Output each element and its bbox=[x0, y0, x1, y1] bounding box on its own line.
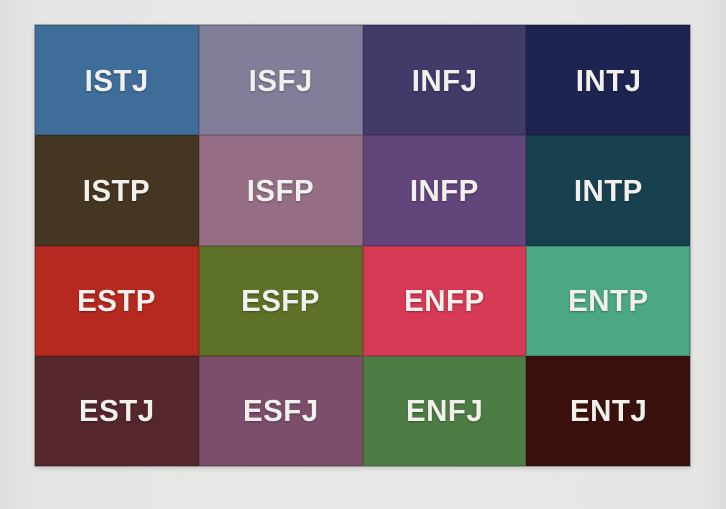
mbti-type-grid: ISTJ ISFJ INFJ INTJ ISTP ISFP INFP INTP … bbox=[35, 25, 690, 466]
mbti-cell-label: ENTP bbox=[568, 285, 648, 316]
mbti-cell-label: INFJ bbox=[412, 65, 478, 96]
mbti-cell-infj[interactable]: INFJ bbox=[363, 25, 527, 135]
mbti-cell-estp[interactable]: ESTP bbox=[35, 246, 199, 356]
mbti-cell-label: ISTP bbox=[83, 175, 150, 206]
mbti-cell-label: ISTJ bbox=[85, 65, 149, 96]
mbti-cell-label: ENFJ bbox=[406, 395, 483, 426]
mbti-cell-istj[interactable]: ISTJ bbox=[35, 25, 199, 135]
mbti-cell-enfj[interactable]: ENFJ bbox=[363, 356, 527, 466]
mbti-cell-label: ESFJ bbox=[243, 395, 319, 426]
mbti-cell-label: ISFP bbox=[247, 175, 314, 206]
mbti-cell-label: INTJ bbox=[575, 65, 641, 96]
mbti-cell-label: ESTP bbox=[77, 285, 156, 316]
mbti-cell-entp[interactable]: ENTP bbox=[526, 246, 690, 356]
mbti-cell-label: INTP bbox=[574, 175, 643, 206]
mbti-cell-esfj[interactable]: ESFJ bbox=[199, 356, 363, 466]
mbti-cell-label: ESFP bbox=[241, 285, 320, 316]
mbti-cell-intp[interactable]: INTP bbox=[526, 135, 690, 245]
mbti-cell-esfp[interactable]: ESFP bbox=[199, 246, 363, 356]
mbti-cell-isfj[interactable]: ISFJ bbox=[199, 25, 363, 135]
mbti-cell-label: ENFP bbox=[404, 285, 484, 316]
mbti-cell-label: ISFJ bbox=[249, 65, 313, 96]
mbti-cell-label: ESTJ bbox=[79, 395, 155, 426]
mbti-cell-estj[interactable]: ESTJ bbox=[35, 356, 199, 466]
mbti-cell-label: ENTJ bbox=[570, 395, 647, 426]
mbti-cell-enfp[interactable]: ENFP bbox=[363, 246, 527, 356]
mbti-cell-infp[interactable]: INFP bbox=[363, 135, 527, 245]
mbti-grid-container: ISTJ ISFJ INFJ INTJ ISTP ISFP INFP INTP … bbox=[35, 25, 690, 466]
mbti-cell-label: INFP bbox=[410, 175, 479, 206]
mbti-cell-entj[interactable]: ENTJ bbox=[526, 356, 690, 466]
mbti-cell-intj[interactable]: INTJ bbox=[526, 25, 690, 135]
mbti-cell-isfp[interactable]: ISFP bbox=[199, 135, 363, 245]
mbti-cell-istp[interactable]: ISTP bbox=[35, 135, 199, 245]
